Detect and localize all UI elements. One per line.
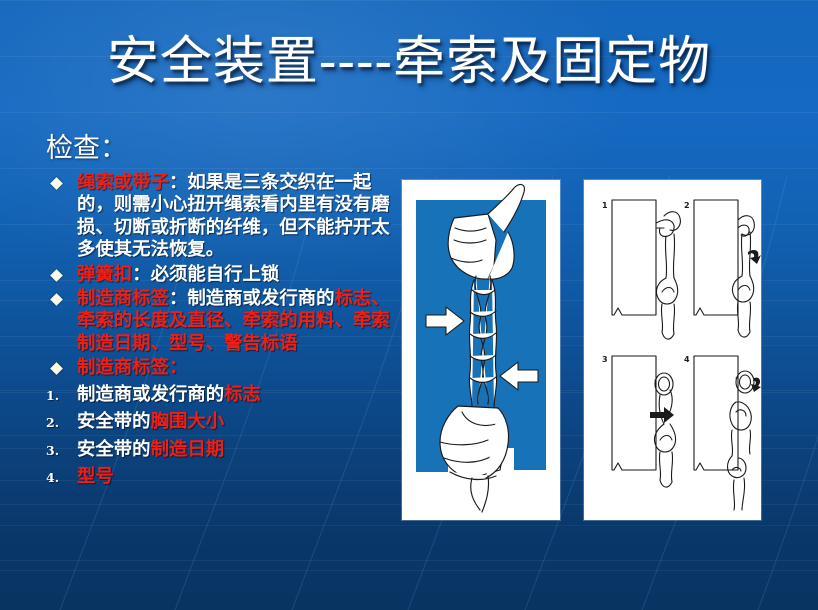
diamond-bullet-icon [50, 177, 63, 190]
bullet-2-segment-0: 制造商标签 [77, 288, 169, 309]
bullet-item-2: 制造商标签：制造商或发行商的标志、牵索的长度及直径、牵索的用料、牵索制造日期、型… [44, 288, 404, 355]
step-label-1: 1 [602, 201, 608, 210]
slide-body: 检查： 绳索或带子：如果是三条交织在一起的，则需小心扭开绳索看内里有没有磨损、切… [44, 134, 404, 494]
step-label-4: 4 [684, 355, 690, 364]
diamond-bullet-icon [50, 362, 63, 375]
rope-inspection-illustration [402, 180, 560, 520]
bullet-item-0: 绳索或带子：如果是三条交织在一起的，则需小心扭开绳索看内里有没有磨损、切断或折断… [44, 172, 404, 262]
snap-hook-steps-illustration: 1 2 3 4 [584, 180, 761, 520]
list-number: 3. [46, 443, 70, 458]
step-label-3: 3 [602, 355, 608, 364]
numbered-item-3: 3. 安全带的制造日期 [44, 439, 404, 461]
bullet-2-segment-1: ：制造商或发行商的 [169, 288, 335, 309]
bullet-item-3: 制造商标签： [44, 357, 404, 379]
bullet-3-segment-0: 制造商标签： [77, 357, 187, 378]
slide-title: 安全装置----牵索及固定物 [0, 33, 818, 91]
list-number: 1. [46, 388, 70, 403]
list-number: 4. [46, 470, 70, 485]
list-number: 2. [46, 415, 70, 430]
section-heading: 检查： [46, 134, 404, 164]
diamond-bullet-icon [50, 269, 63, 282]
bullet-0-segment-0: 绳索或带子 [77, 172, 169, 193]
numbered-1-segment-1: 标志 [224, 384, 261, 405]
numbered-1-segment-0: 制造商或发行商的 [77, 384, 224, 405]
bullet-1-segment-0: 弹簧扣 [77, 264, 132, 285]
numbered-3-segment-1: 制造日期 [151, 439, 225, 460]
diamond-bullet-icon [50, 293, 63, 306]
rope-inspection-figure [402, 180, 560, 520]
numbered-3-segment-0: 安全带的 [77, 439, 151, 460]
bullet-1-segment-1: ：必须能自行上锁 [132, 264, 279, 285]
numbered-list: 1. 制造商或发行商的标志 2. 安全带的胸围大小 3. 安全带的制造日期 4.… [44, 384, 404, 489]
bullet-item-1: 弹簧扣：必须能自行上锁 [44, 264, 404, 286]
numbered-item-1: 1. 制造商或发行商的标志 [44, 384, 404, 406]
presentation-slide: 安全装置----牵索及固定物 检查： 绳索或带子：如果是三条交织在一起的，则需小… [0, 0, 818, 610]
snap-hook-steps-figure: 1 2 3 4 [584, 180, 761, 520]
numbered-item-4: 4. 型号 [44, 466, 404, 488]
numbered-2-segment-1: 胸围大小 [151, 411, 225, 432]
bullet-list: 绳索或带子：如果是三条交织在一起的，则需小心扭开绳索看内里有没有磨损、切断或折断… [44, 172, 404, 380]
numbered-4-segment-0: 型号 [77, 466, 114, 487]
numbered-item-2: 2. 安全带的胸围大小 [44, 411, 404, 433]
numbered-2-segment-0: 安全带的 [77, 411, 151, 432]
step-label-2: 2 [684, 201, 690, 210]
